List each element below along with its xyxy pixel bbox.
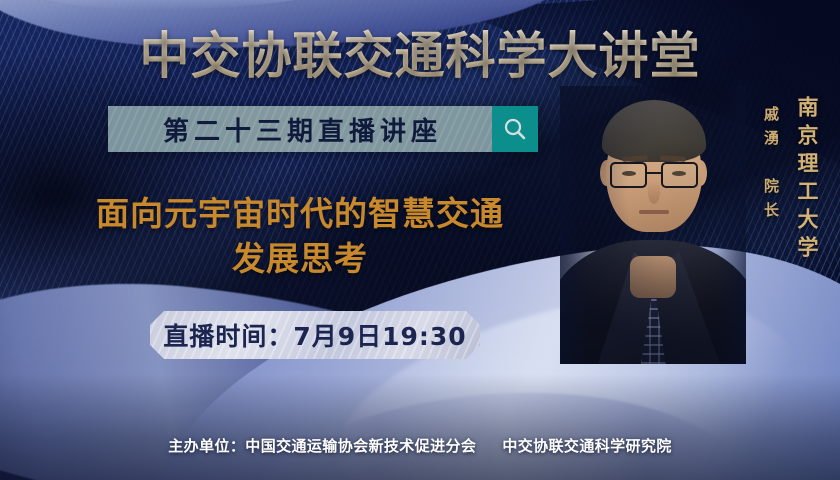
organizer-name-2: 中交协联交通科学研究院 [502,437,671,455]
organizer-name-1: 中国交通运输协会新技术促进分会 [245,437,476,455]
bottom-shadow-overlay [0,374,840,480]
lecture-topic-line2: 发展思考 [40,237,560,282]
speaker-name-title: 戚湧 院长 [761,106,782,226]
organizer-prefix: 主办单位： [168,437,245,455]
livestream-poster: 中交协联交通科学大讲堂 第二十三期直播讲座 面向元宇宙时代的智慧交通 发展思考 … [0,0,840,480]
lecture-topic-line1: 面向元宇宙时代的智慧交通 [96,194,504,233]
speaker-affiliation: 南京理工大学 [792,96,822,264]
lecture-topic: 面向元宇宙时代的智慧交通 发展思考 [40,192,560,282]
organizers-footer: 主办单位：中国交通运输协会新技术促进分会中交协联交通科学研究院 [0,435,840,456]
portrait-edge-fade [560,86,746,364]
episode-label: 第二十三期直播讲座 [108,106,492,152]
search-icon[interactable] [492,106,538,152]
episode-bar: 第二十三期直播讲座 [108,106,538,152]
page-title: 中交协联交通科学大讲堂 [0,16,840,88]
broadcast-time-banner: 直播时间：7月9日19:30 [150,311,480,359]
speaker-portrait [560,86,746,364]
